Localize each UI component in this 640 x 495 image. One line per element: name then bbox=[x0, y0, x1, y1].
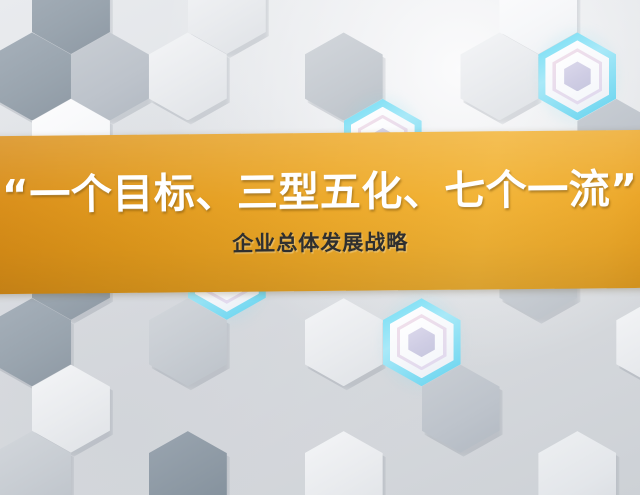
slide-subtitle: 企业总体发展战略 bbox=[232, 226, 408, 258]
title-banner-content: “一个目标、三型五化、七个一流” 企业总体发展战略 bbox=[0, 130, 640, 294]
hexagon-tile bbox=[305, 431, 383, 495]
hexagon-tile bbox=[149, 431, 227, 495]
hexagon-tile bbox=[538, 431, 616, 495]
title-banner: “一个目标、三型五化、七个一流” 企业总体发展战略 bbox=[0, 130, 640, 294]
presentation-slide: “一个目标、三型五化、七个一流” 企业总体发展战略 bbox=[0, 0, 640, 495]
slide-title: “一个目标、三型五化、七个一流” bbox=[2, 168, 638, 217]
